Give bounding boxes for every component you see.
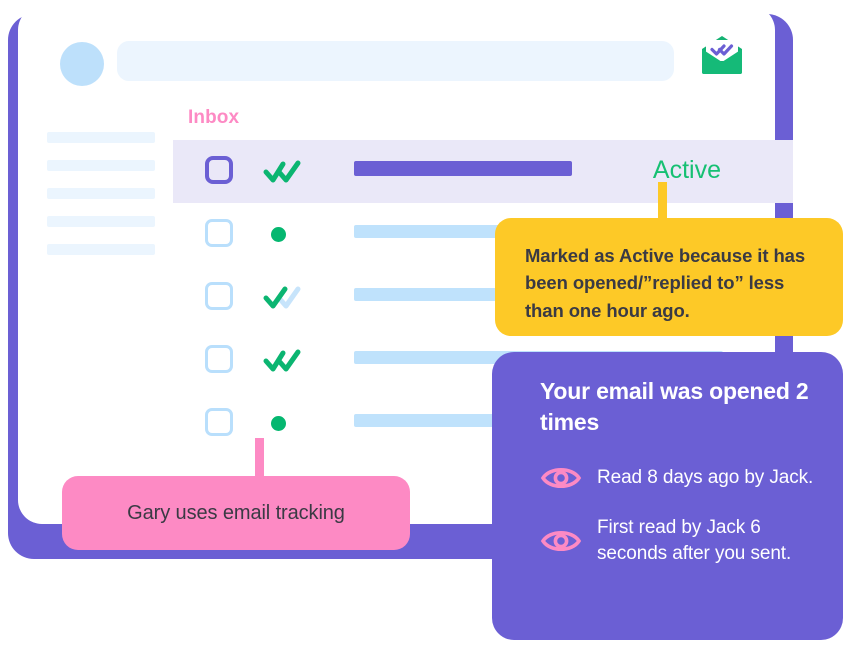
sidebar-item-5[interactable] (47, 244, 155, 255)
row-checkbox[interactable] (205, 219, 233, 247)
eye-icon (540, 526, 582, 556)
double-check-half-icon (263, 283, 305, 311)
row-checkbox[interactable] (205, 282, 233, 310)
envelope-tracked-icon[interactable] (699, 35, 745, 75)
yellow-callout-connector (658, 182, 667, 222)
pink-callout-text: Gary uses email tracking (127, 502, 345, 525)
list-item: Read 8 days ago by Jack. (540, 463, 817, 493)
table-row[interactable]: Active (173, 140, 793, 203)
read-event-text: Read 8 days ago by Jack. (597, 465, 813, 491)
read-event-text: First read by Jack 6 seconds after you s… (597, 515, 817, 566)
panel-heading: Your email was opened 2 times (540, 376, 817, 437)
eye-icon (540, 463, 582, 493)
list-item: First read by Jack 6 seconds after you s… (540, 515, 817, 566)
sidebar-item-4[interactable] (47, 216, 155, 227)
row-checkbox[interactable] (205, 156, 233, 184)
yellow-callout: Marked as Active because it has been ope… (495, 218, 843, 336)
unread-dot-icon (271, 227, 286, 242)
sidebar-item-1[interactable] (47, 132, 155, 143)
sidebar-item-3[interactable] (47, 188, 155, 199)
row-checkbox[interactable] (205, 345, 233, 373)
search-input[interactable] (117, 41, 674, 81)
row-checkbox[interactable] (205, 408, 233, 436)
illustration-stage: Inbox Active (0, 0, 850, 652)
pink-callout: Gary uses email tracking (62, 476, 410, 550)
double-check-read-icon (263, 157, 305, 185)
status-badge: Active (653, 156, 721, 185)
email-opens-panel: Your email was opened 2 times Read 8 day… (492, 352, 843, 640)
sidebar-item-2[interactable] (47, 160, 155, 171)
page-title: Inbox (188, 107, 239, 129)
yellow-callout-text: Marked as Active because it has been ope… (525, 242, 815, 324)
double-check-read-icon (263, 346, 305, 374)
sidebar-placeholder-list (47, 132, 155, 272)
subject-placeholder (354, 161, 572, 176)
avatar[interactable] (60, 42, 104, 86)
unread-dot-icon (271, 416, 286, 431)
